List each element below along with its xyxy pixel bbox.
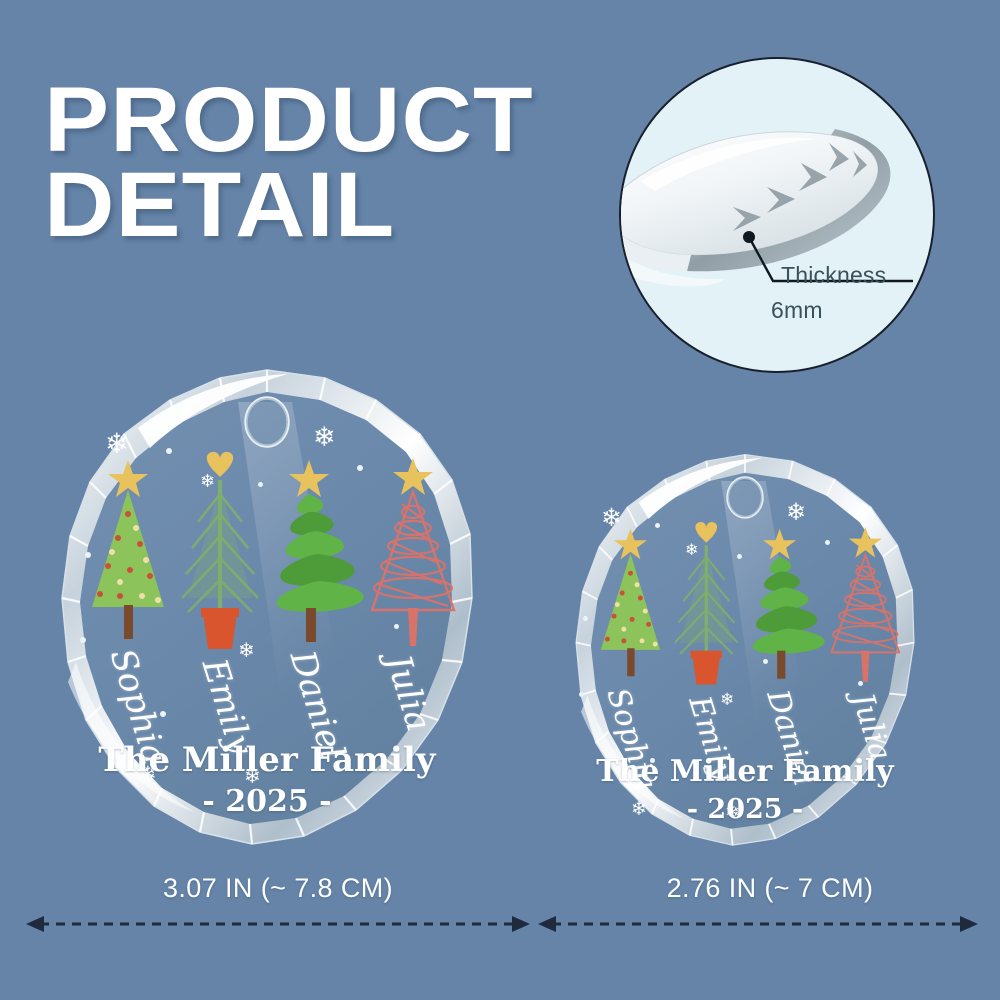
ornament-small[interactable]: ❄ ❄ ❄ ❄ ❄ ❄ bbox=[545, 448, 945, 860]
thickness-label: Thickness bbox=[781, 262, 886, 289]
ornament-large[interactable]: ❄ ❄ ❄ ❄ ❄ ❄ bbox=[42, 362, 492, 862]
ornament-small-glass bbox=[545, 448, 945, 860]
product-detail-stage: PRODUCT DETAIL bbox=[0, 0, 1000, 1000]
dimension-label-large: 3.07 IN (~ 7.8 CM) bbox=[28, 873, 528, 904]
ornament-large-glass bbox=[42, 362, 492, 862]
page-title-line-2: DETAIL bbox=[44, 163, 680, 248]
dimension-arrow-small bbox=[536, 912, 980, 936]
page-title-line-1: PRODUCT bbox=[44, 78, 680, 163]
thickness-value: 6mm bbox=[771, 297, 823, 324]
dimension-label-small: 2.76 IN (~ 7 CM) bbox=[560, 873, 980, 904]
dimension-arrow-large bbox=[24, 912, 532, 936]
thickness-callout-circle: Thickness 6mm bbox=[619, 57, 935, 373]
page-title: PRODUCT DETAIL bbox=[44, 78, 644, 247]
thickness-pointer-dot bbox=[743, 231, 755, 243]
